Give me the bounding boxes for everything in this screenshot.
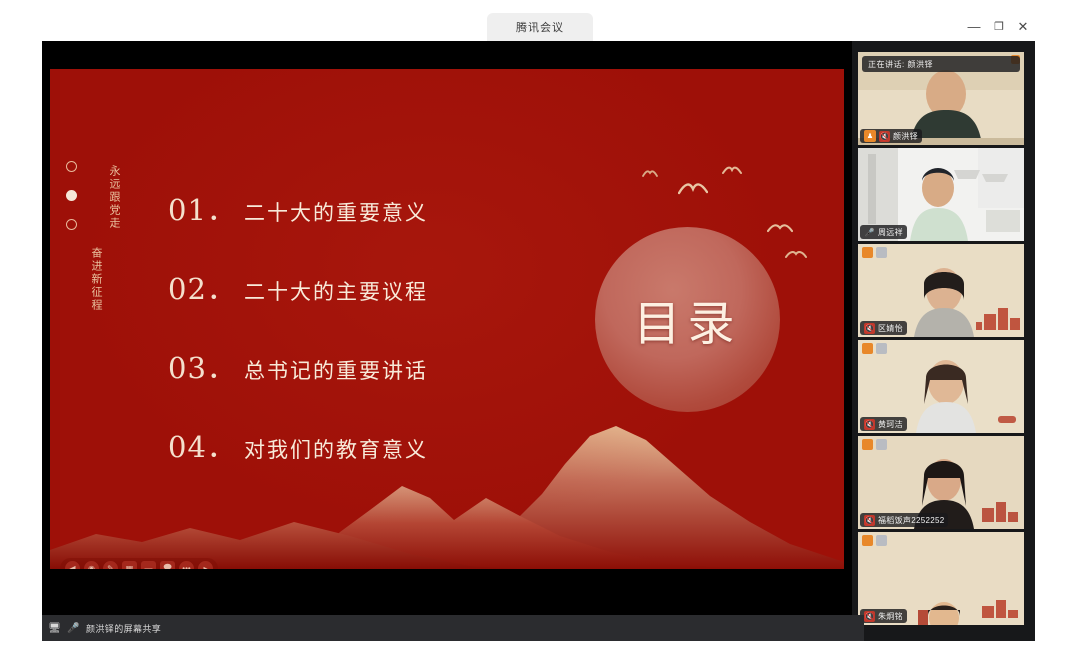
participant-tile[interactable]: 正在讲话: 颜洪铎 ♟ 🔇 颜洪铎	[858, 52, 1024, 145]
screen-share-status-bar: 🖥 🎤 颜洪铎的屏幕共享	[42, 615, 864, 641]
participant-tile[interactable]: 🔇 区婧怡	[858, 244, 1024, 337]
close-button[interactable]: ✕	[1012, 18, 1034, 36]
agenda-text: 二十大的主要议程	[244, 276, 428, 306]
participant-name: 区婧怡	[878, 323, 903, 334]
slide-title: 目录	[595, 227, 780, 412]
camera-status-icon	[876, 439, 887, 450]
ribbon-dot	[66, 219, 77, 230]
grid-view-icon[interactable]: ▦	[122, 561, 137, 569]
window-title-bar: 腾讯会议 — ❐ ✕	[0, 0, 1080, 42]
presentation-slide: 目录 永远跟党走 奋进新征程 01． 二十大的重要意	[50, 69, 844, 569]
participant-namebar: 🔇 区婧怡	[860, 321, 907, 335]
network-indicator-icon	[862, 535, 873, 546]
bird-icon	[722, 165, 742, 176]
agenda-list: 01． 二十大的重要意义 02． 二十大的主要议程 03． 总书记的重要讲话 0…	[168, 187, 568, 503]
participant-tile[interactable]: 🎤 周远祥	[858, 148, 1024, 241]
agenda-item: 01． 二十大的重要意义	[168, 187, 568, 229]
microphone-icon[interactable]: 🎤	[67, 622, 80, 635]
minimize-button[interactable]: —	[963, 18, 985, 36]
bird-icon	[642, 169, 658, 178]
pen-icon[interactable]: ✎	[103, 561, 118, 569]
participant-namebar: 🔇 福稻饭声2252252	[860, 513, 948, 527]
slide-side-ribbon: 永远跟党走 奋进新征程	[60, 159, 132, 344]
participant-namebar: 🔇 黄珂洁	[860, 417, 907, 431]
ribbon-dot-active	[66, 190, 77, 201]
participant-namebar: 🎤 周远祥	[860, 225, 907, 239]
network-indicator-icon	[862, 343, 873, 354]
screen-icon[interactable]: ▬	[141, 561, 156, 569]
more-options-icon[interactable]: •••	[179, 561, 194, 569]
screen-share-status-text: 颜洪铎的屏幕共享	[86, 622, 161, 635]
network-indicator-icon	[862, 439, 873, 450]
camera-status-icon	[876, 247, 887, 258]
screen-share-icon[interactable]: 🖥	[48, 622, 61, 635]
window-title: 腾讯会议	[487, 19, 593, 35]
agenda-text: 总书记的重要讲话	[244, 355, 428, 385]
caption-icon[interactable]: 🗩	[160, 561, 175, 569]
agenda-number: 01．	[168, 187, 244, 229]
laser-pointer-icon[interactable]: ◉	[84, 561, 99, 569]
speaking-banner: 正在讲话: 颜洪铎	[862, 56, 1020, 72]
microphone-icon: 🎤	[864, 227, 875, 238]
agenda-number: 03．	[168, 345, 244, 387]
participant-tile[interactable]: 🔇 朱炯铭	[858, 532, 1024, 625]
agenda-text: 对我们的教育意义	[244, 434, 428, 464]
camera-status-icon	[876, 535, 887, 546]
agenda-item: 03． 总书记的重要讲话	[168, 345, 568, 387]
participant-namebar: ♟ 🔇 颜洪铎	[860, 129, 922, 143]
camera-status-icon	[876, 343, 887, 354]
participant-name: 周远祥	[878, 227, 903, 238]
participant-namebar: 🔇 朱炯铭	[860, 609, 907, 623]
participant-name: 颜洪铎	[893, 131, 918, 142]
participant-video-strip[interactable]: 正在讲话: 颜洪铎 ♟ 🔇 颜洪铎 🎤 周远祥	[858, 52, 1028, 632]
slide-vertical-text-right: 永远跟党走	[106, 165, 122, 230]
bird-icon	[678, 181, 708, 197]
participant-name: 黄珂洁	[878, 419, 903, 430]
microphone-muted-icon: 🔇	[879, 131, 890, 142]
end-show-icon[interactable]: ▸	[198, 561, 213, 569]
slide-vertical-text-left: 奋进新征程	[88, 247, 104, 312]
bird-icon	[785, 249, 807, 260]
previous-slide-icon[interactable]: ◀	[65, 561, 80, 569]
participant-name: 朱炯铭	[878, 611, 903, 622]
speaking-banner-text: 正在讲话: 颜洪铎	[868, 59, 933, 70]
agenda-item: 02． 二十大的主要议程	[168, 266, 568, 308]
microphone-muted-icon: 🔇	[864, 515, 875, 526]
participant-tile[interactable]: 🔇 黄珂洁	[858, 340, 1024, 433]
presentation-toolbar[interactable]: ◀ ◉ ✎ ▦ ▬ 🗩 ••• ▸	[60, 558, 218, 569]
participant-tile[interactable]: 🔇 福稻饭声2252252	[858, 436, 1024, 529]
agenda-number: 04．	[168, 424, 244, 466]
maximize-button[interactable]: ❐	[988, 18, 1010, 36]
microphone-muted-icon: 🔇	[864, 419, 875, 430]
agenda-number: 02．	[168, 266, 244, 308]
shared-screen-area: 目录 永远跟党走 奋进新征程 01． 二十大的重要意	[42, 41, 852, 641]
agenda-text: 二十大的重要意义	[244, 197, 428, 227]
microphone-muted-icon: 🔇	[864, 323, 875, 334]
microphone-muted-icon: 🔇	[864, 611, 875, 622]
agenda-item: 04． 对我们的教育意义	[168, 424, 568, 466]
participant-name: 福稻饭声2252252	[878, 515, 944, 526]
host-badge-icon: ♟	[864, 130, 876, 142]
network-indicator-icon	[862, 247, 873, 258]
ribbon-dot	[66, 161, 77, 172]
